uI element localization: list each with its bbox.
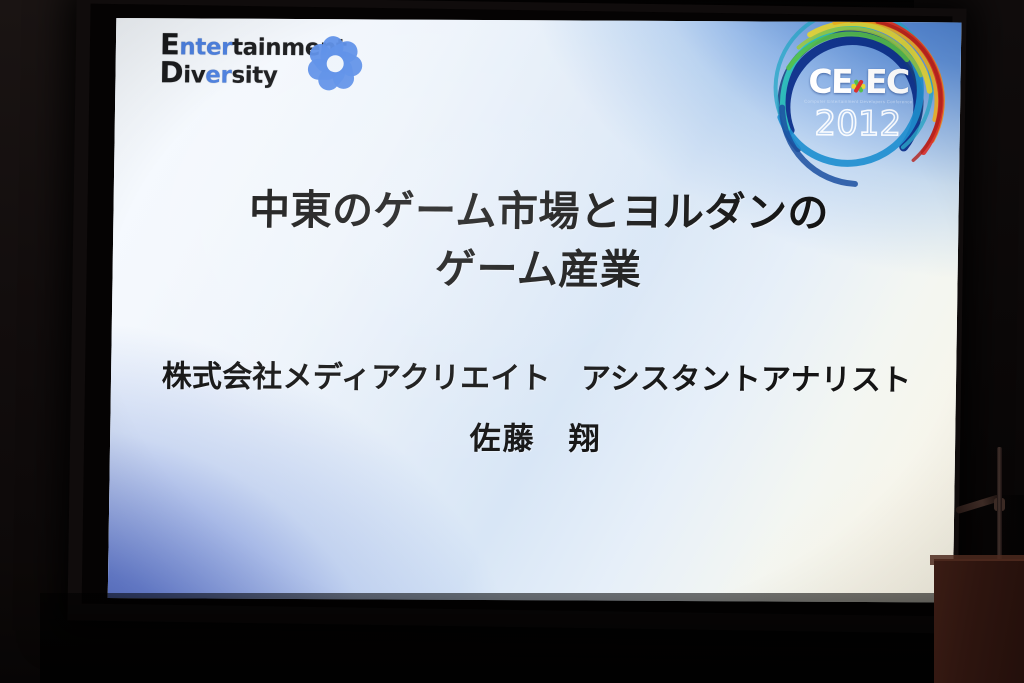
cedec-2012-logo: CEEC Computer Entertainment Developers C… bbox=[763, 18, 956, 190]
projection-screen-frame: Entertainment Diversity bbox=[67, 0, 966, 634]
auditorium-scene: Entertainment Diversity bbox=[0, 0, 1024, 683]
projected-slide-viewport: Entertainment Diversity bbox=[108, 18, 962, 602]
cedec-wordmark: CEEC bbox=[808, 67, 909, 98]
slide-presenter-name: 佐藤 翔 bbox=[108, 416, 962, 463]
cedec-text-right: EC bbox=[865, 62, 909, 101]
slide-title-line-2: ゲーム産業 bbox=[108, 238, 962, 301]
cedec-tagline: Computer Entertainment Developers Confer… bbox=[804, 99, 912, 105]
ed-letter-d: D bbox=[159, 55, 183, 89]
ed-mid-iv: iv bbox=[183, 62, 205, 88]
cedec-logo-core: CEEC Computer Entertainment Developers C… bbox=[795, 44, 921, 165]
ed-highlight-nter: nter bbox=[179, 34, 232, 60]
swirl-center bbox=[326, 55, 343, 72]
slide-title: 中東のゲーム市場とヨルダンの ゲーム産業 bbox=[108, 180, 962, 301]
ed-suffix-sity: sity bbox=[231, 63, 277, 89]
projection-screen-bezel: Entertainment Diversity bbox=[82, 4, 953, 617]
slide-title-line-1: 中東のゲーム市場とヨルダンの bbox=[108, 180, 962, 243]
slide-affiliation: 株式会社メディアクリエイト アシスタントアナリスト bbox=[108, 357, 962, 402]
microphone-stand bbox=[997, 447, 1002, 565]
stage-dark-panel bbox=[972, 495, 1024, 683]
cedec-year: 2012 bbox=[814, 107, 901, 141]
microphone-joint bbox=[994, 498, 1005, 511]
pinwheel-swirl-icon bbox=[296, 27, 373, 99]
microphone-arm bbox=[955, 494, 1001, 514]
cedec-x-icon bbox=[851, 79, 866, 94]
presentation-slide: Entertainment Diversity bbox=[108, 18, 962, 602]
cedec-text-left: CE bbox=[808, 62, 852, 101]
entertainment-diversity-logo: Entertainment Diversity bbox=[159, 26, 380, 105]
ed-highlight-er: er bbox=[205, 63, 232, 89]
